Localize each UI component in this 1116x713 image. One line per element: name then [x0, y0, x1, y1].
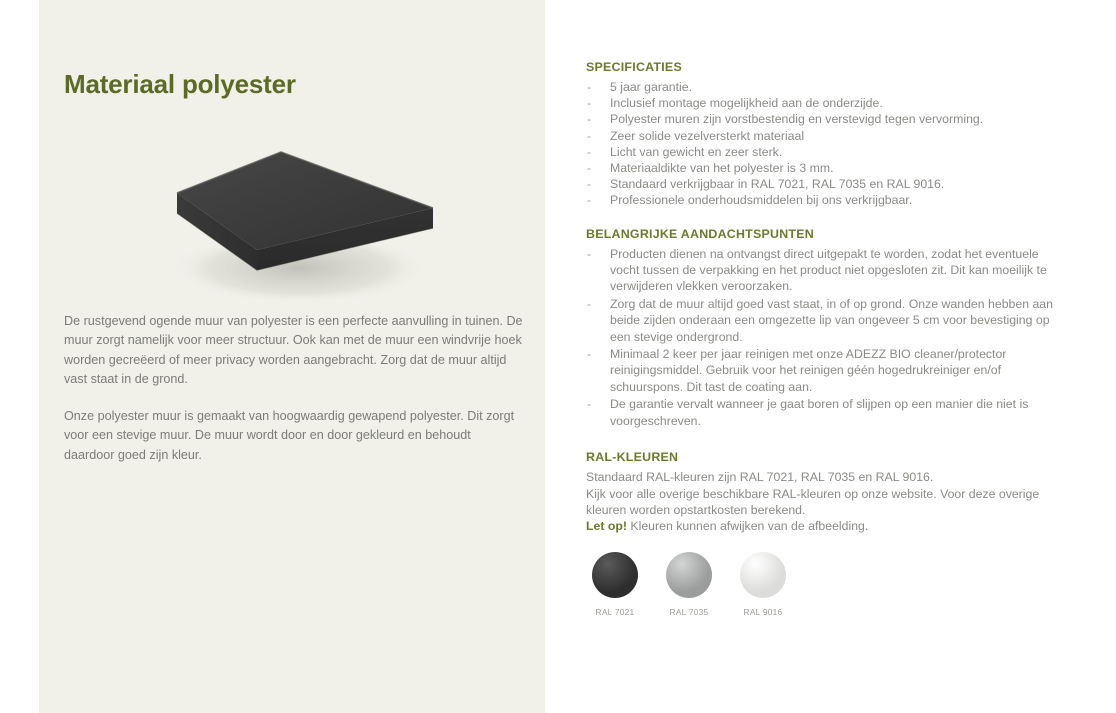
specification-item: -Licht van gewicht en zeer sterk.	[586, 144, 1056, 160]
attention-points-list: -Producten dienen na ontvangst direct ui…	[586, 246, 1056, 429]
specification-item: -5 jaar garantie.	[586, 79, 1056, 95]
specification-item: -Standaard verkrijgbaar in RAL 7021, RAL…	[586, 176, 1056, 192]
bullet-dash-icon: -	[587, 144, 591, 160]
bullet-dash-icon: -	[587, 296, 591, 312]
ral-other-colors-text: Kijk voor alle overige beschikbare RAL-k…	[586, 486, 1056, 519]
ral-disclaimer-text: Kleuren kunnen afwijken van de afbeeldin…	[627, 519, 868, 533]
specification-item-text: Licht van gewicht en zeer sterk.	[610, 145, 782, 159]
specification-item: -Materiaaldikte van het polyester is 3 m…	[586, 160, 1056, 176]
bullet-dash-icon: -	[587, 346, 591, 362]
ral-swatch[interactable]: RAL 9016	[734, 552, 792, 617]
ral-swatch-sphere-icon	[666, 552, 712, 598]
ral-swatch[interactable]: RAL 7021	[586, 552, 644, 617]
attention-points-heading: BELANGRIJKE AANDACHTSPUNTEN	[586, 227, 1056, 241]
bullet-dash-icon: -	[587, 192, 591, 208]
specifications-heading: SPECIFICATIES	[586, 60, 1056, 74]
left-product-panel: Materiaal polyester	[39, 0, 545, 713]
bullet-dash-icon: -	[587, 176, 591, 192]
specification-item-text: Materiaaldikte van het polyester is 3 mm…	[610, 161, 834, 175]
bullet-dash-icon: -	[587, 246, 591, 262]
specification-item: -Polyester muren zijn vorstbestendig en …	[586, 111, 1056, 127]
attention-item: -Minimaal 2 keer per jaar reinigen met o…	[586, 346, 1056, 395]
ral-swatch-sphere-icon	[740, 552, 786, 598]
bullet-dash-icon: -	[587, 79, 591, 95]
attention-item: -De garantie vervalt wanneer je gaat bor…	[586, 396, 1056, 429]
ral-disclaimer-emphasis: Let op!	[586, 519, 627, 533]
ral-disclaimer: Let op! Kleuren kunnen afwijken van de a…	[586, 518, 1056, 534]
specification-item-text: Polyester muren zijn vorstbestendig en v…	[610, 112, 983, 126]
attention-item-text: De garantie vervalt wanneer je gaat bore…	[610, 397, 1028, 427]
attention-item: -Producten dienen na ontvangst direct ui…	[586, 246, 1056, 295]
attention-item-text: Zorg dat de muur altijd goed vast staat,…	[610, 297, 1053, 344]
specification-item-text: Inclusief montage mogelijkheid aan de on…	[610, 96, 883, 110]
page-title: Materiaal polyester	[64, 69, 296, 100]
specification-item-text: Zeer solide vezelversterkt materiaal	[610, 129, 804, 143]
description-paragraph-2: Onze polyester muur is gemaakt van hoogw…	[64, 407, 524, 465]
ral-colors-heading: RAL-KLEUREN	[586, 450, 1056, 464]
specifications-list: -5 jaar garantie.-Inclusief montage moge…	[586, 79, 1056, 209]
specification-item-text: 5 jaar garantie.	[610, 80, 692, 94]
attention-item: -Zorg dat de muur altijd goed vast staat…	[586, 296, 1056, 345]
description-paragraph-1: De rustgevend ogende muur van polyester …	[64, 312, 524, 389]
ral-swatch[interactable]: RAL 7035	[660, 552, 718, 617]
specification-item-text: Professionele onderhoudsmiddelen bij ons…	[610, 193, 912, 207]
ral-swatch-row: RAL 7021RAL 7035RAL 9016	[586, 552, 1056, 617]
specifications-column: SPECIFICATIES -5 jaar garantie.-Inclusie…	[586, 60, 1056, 617]
specification-item: -Inclusief montage mogelijkheid aan de o…	[586, 95, 1056, 111]
bullet-dash-icon: -	[587, 95, 591, 111]
ral-swatch-label: RAL 7035	[660, 607, 718, 617]
ral-swatch-label: RAL 9016	[734, 607, 792, 617]
bullet-dash-icon: -	[587, 128, 591, 144]
specification-item: -Professionele onderhoudsmiddelen bij on…	[586, 192, 1056, 208]
specification-item: -Zeer solide vezelversterkt materiaal	[586, 128, 1056, 144]
ral-swatch-label: RAL 7021	[586, 607, 644, 617]
attention-item-text: Producten dienen na ontvangst direct uit…	[610, 247, 1047, 294]
bullet-dash-icon: -	[587, 160, 591, 176]
ral-standard-colors-text: Standaard RAL-kleuren zijn RAL 7021, RAL…	[586, 469, 1056, 485]
specification-item-text: Standaard verkrijgbaar in RAL 7021, RAL …	[610, 177, 944, 191]
ral-swatch-sphere-icon	[592, 552, 638, 598]
attention-item-text: Minimaal 2 keer per jaar reinigen met on…	[610, 347, 1006, 394]
bullet-dash-icon: -	[587, 396, 591, 412]
product-render-image	[149, 140, 469, 315]
bullet-dash-icon: -	[587, 111, 591, 127]
product-description: De rustgevend ogende muur van polyester …	[64, 312, 524, 483]
